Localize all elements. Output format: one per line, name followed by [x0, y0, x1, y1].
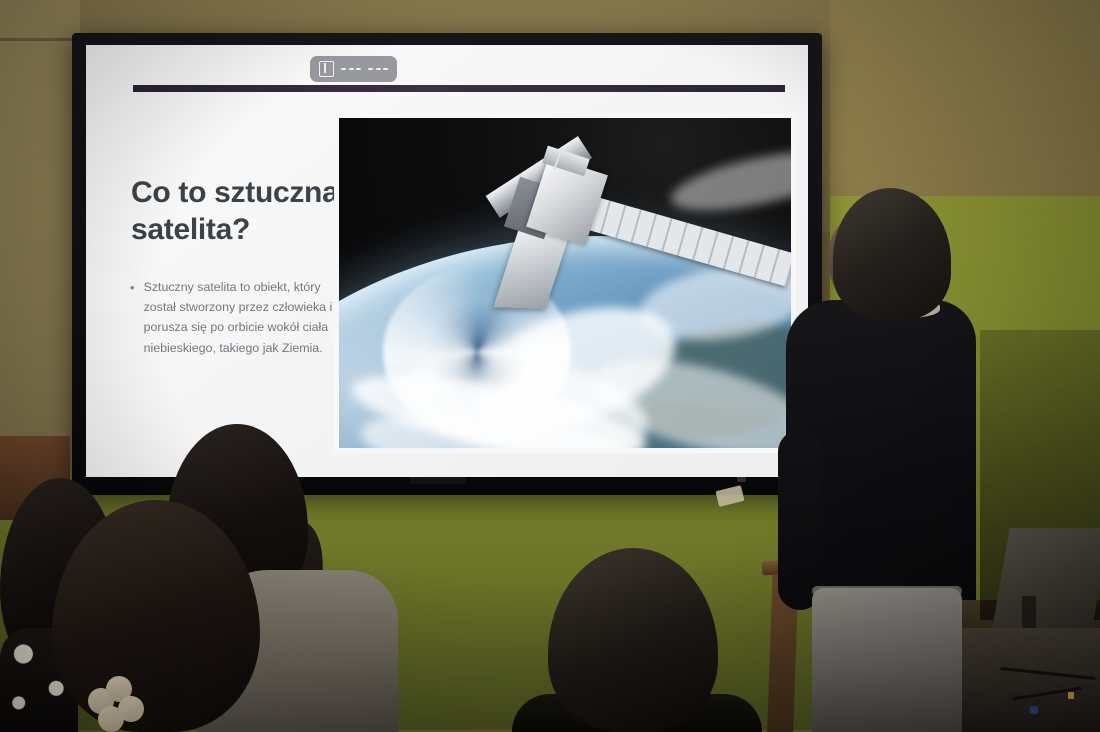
satellite: [339, 118, 791, 448]
slide-title: Co to sztuczna satelita?: [131, 175, 356, 248]
presenter-toolbar[interactable]: [310, 56, 397, 82]
slide-photo-satellite: [334, 113, 796, 453]
toolbar-dash-group-1[interactable]: [341, 68, 361, 71]
status-led-amber: [1068, 692, 1074, 699]
wall-seam: [0, 38, 80, 41]
solar-panel-lower: [493, 229, 570, 309]
classroom-scene: Co to sztuczna satelita? • Sztuczny sate…: [0, 0, 1100, 732]
monitor[interactable]: [990, 528, 1100, 640]
status-led-blue: [1030, 706, 1038, 714]
presenter-arm: [778, 430, 822, 610]
bullet-marker-icon: •: [130, 277, 135, 358]
screen[interactable]: Co to sztuczna satelita? • Sztuczny sate…: [86, 45, 808, 477]
wall-left-tan: [0, 0, 80, 470]
slide-bullet-text: Sztuczny satelita to obiekt, który zosta…: [144, 277, 348, 358]
presenter-trousers: [812, 588, 962, 732]
slide-rule: [133, 85, 785, 92]
slide-bullet: • Sztuczny satelita to obiekt, który zos…: [130, 277, 348, 358]
desk: [962, 628, 1100, 732]
interactive-whiteboard[interactable]: Co to sztuczna satelita? • Sztuczny sate…: [72, 33, 822, 495]
wall-upper-right: [830, 0, 1100, 200]
solar-panel-right: [586, 197, 795, 287]
toolbar-dash-group-2[interactable]: [368, 68, 388, 71]
slides-icon[interactable]: [319, 61, 334, 77]
flower-hairclip-icon: [88, 676, 146, 732]
presentation-slide[interactable]: Co to sztuczna satelita? • Sztuczny sate…: [86, 45, 808, 477]
